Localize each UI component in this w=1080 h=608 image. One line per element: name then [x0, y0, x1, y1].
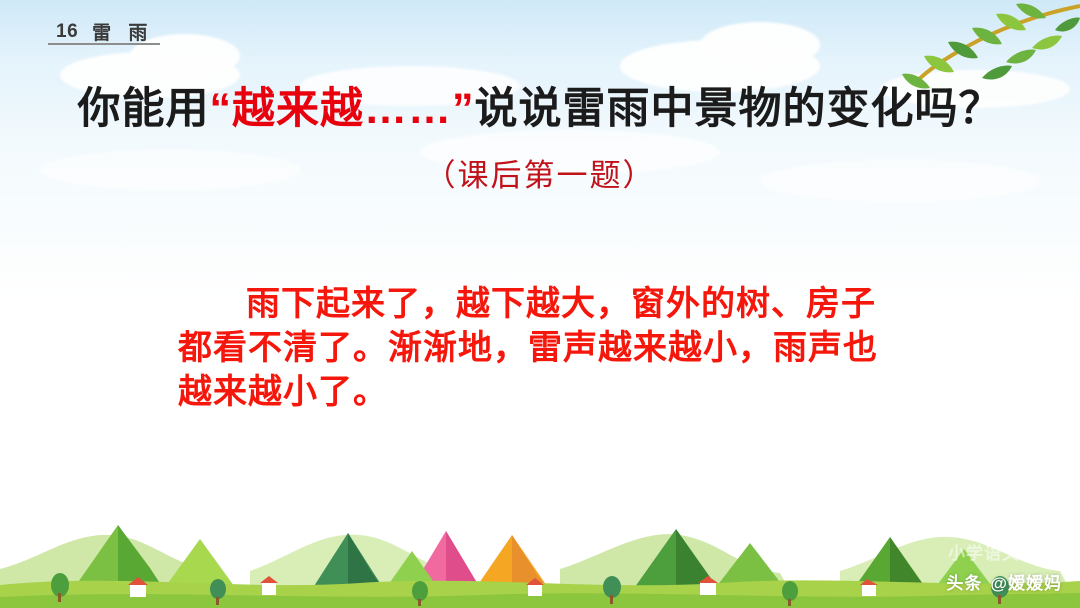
toutiao-logo: 头条 [946, 569, 982, 594]
slide-canvas: 16 雷 雨 你能用“越来越……”说说雷雨中景物的变化吗？ （课后第一题） 雨下… [0, 0, 1080, 608]
question-heading: 你能用“越来越……”说说雷雨中景物的变化吗？ [0, 74, 1080, 136]
answer-paragraph: 雨下起来了，越下越大，窗外的树、房子都看不清了。渐渐地，雷声越来越小，雨声也越来… [178, 282, 878, 414]
question-part-1: 你能用 [78, 85, 210, 133]
header-underline [48, 43, 160, 45]
question-quote-close: ” [452, 85, 475, 133]
lesson-header: 16 雷 雨 [56, 18, 153, 45]
question-quote-open: “ [210, 85, 233, 133]
landscape-illustration [0, 473, 1080, 608]
watermark: 头条 @嫒嫒妈 [946, 569, 1062, 594]
watermark-ghost-text: 小学语文 [948, 539, 1020, 564]
lesson-title: 雷 雨 [92, 18, 153, 45]
cloud-shape [700, 22, 820, 68]
question-source-note: （课后第一题） [0, 150, 1080, 195]
watermark-account: @嫒嫒妈 [990, 569, 1062, 594]
lesson-number: 16 [56, 21, 78, 43]
question-highlight: 越来越…… [232, 85, 452, 133]
question-part-2: 说说雷雨中景物的变化吗？ [475, 85, 1003, 133]
